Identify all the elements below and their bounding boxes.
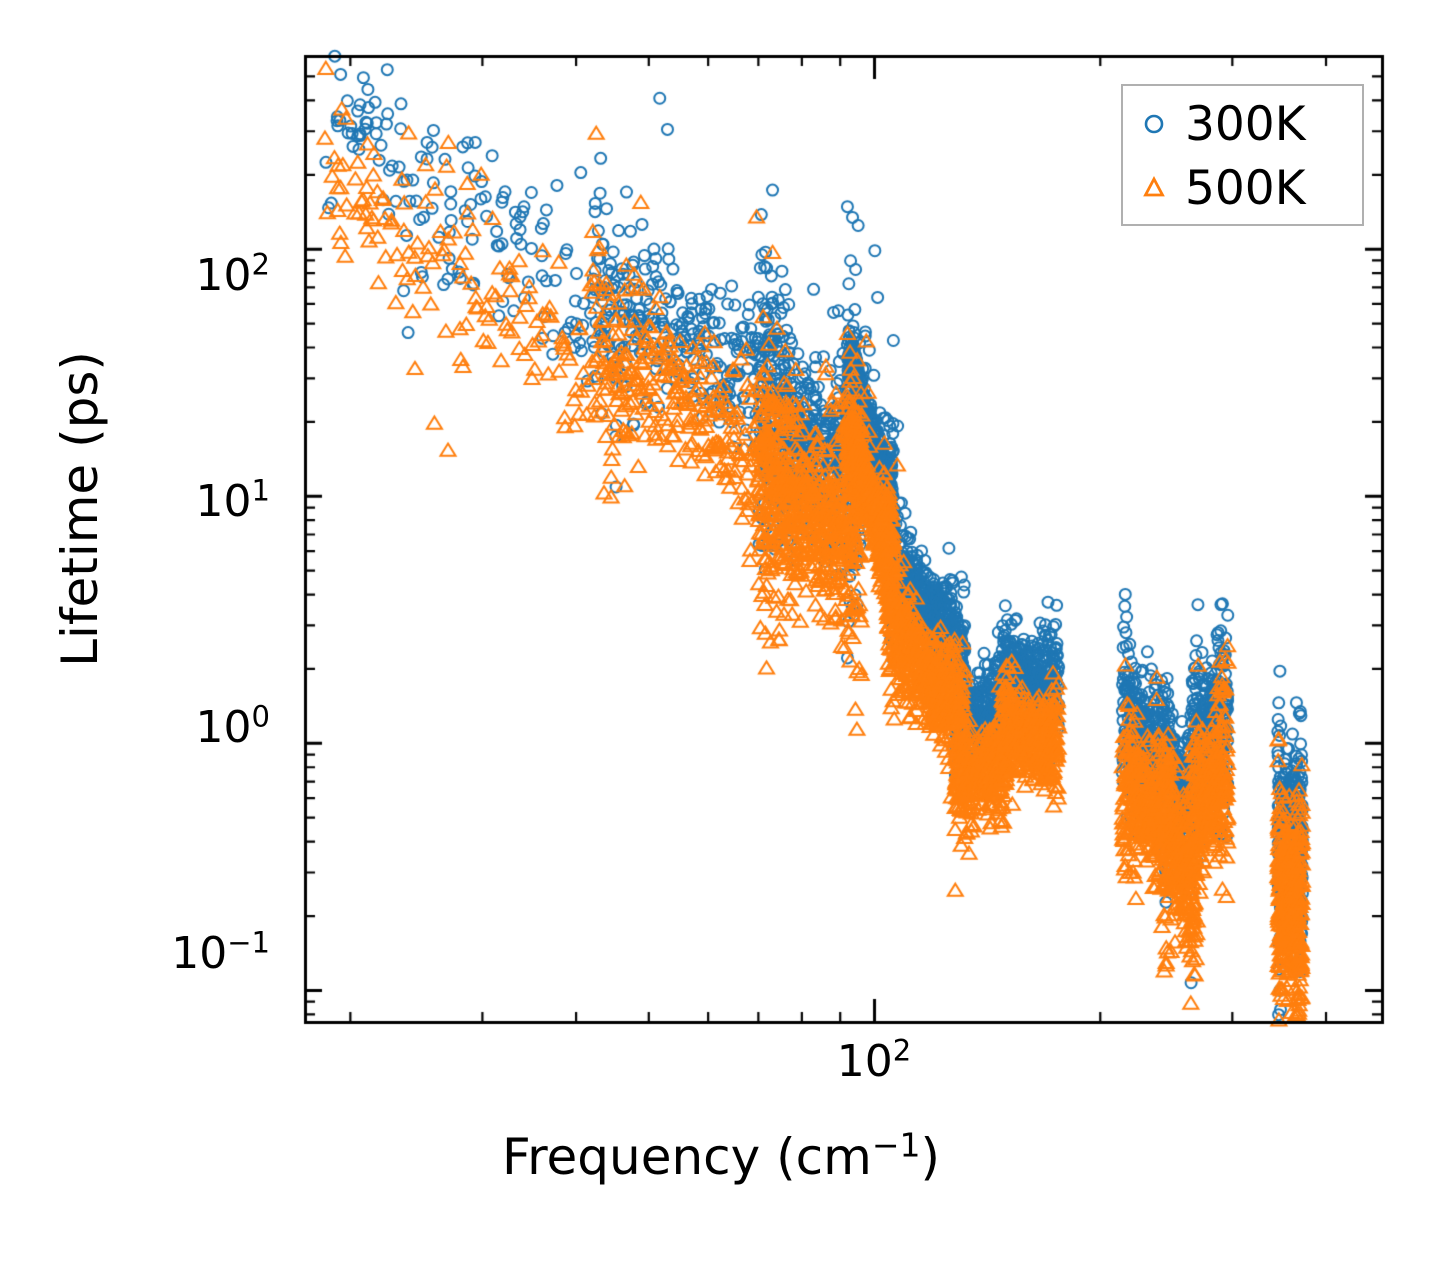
legend-entry-500k: 500K xyxy=(1123,158,1362,218)
x-axis-label: Frequency (cm−1) xyxy=(0,1128,1442,1186)
legend-label-300k: 300K xyxy=(1185,97,1306,152)
phonon-lifetime-figure: 102 101 100 10−1 102 Frequency (cm−1) Li… xyxy=(0,0,1442,1265)
xtick-label-1e2: 102 xyxy=(754,1036,994,1087)
legend-triangle-open-icon xyxy=(1123,175,1185,201)
y-axis-label: Lifetime (ps) xyxy=(51,9,109,1009)
legend-label-500k: 500K xyxy=(1185,161,1306,216)
legend-circle-open-icon xyxy=(1123,111,1185,137)
legend-entry-300k: 300K xyxy=(1123,94,1362,154)
legend: 300K 500K xyxy=(1121,84,1364,226)
